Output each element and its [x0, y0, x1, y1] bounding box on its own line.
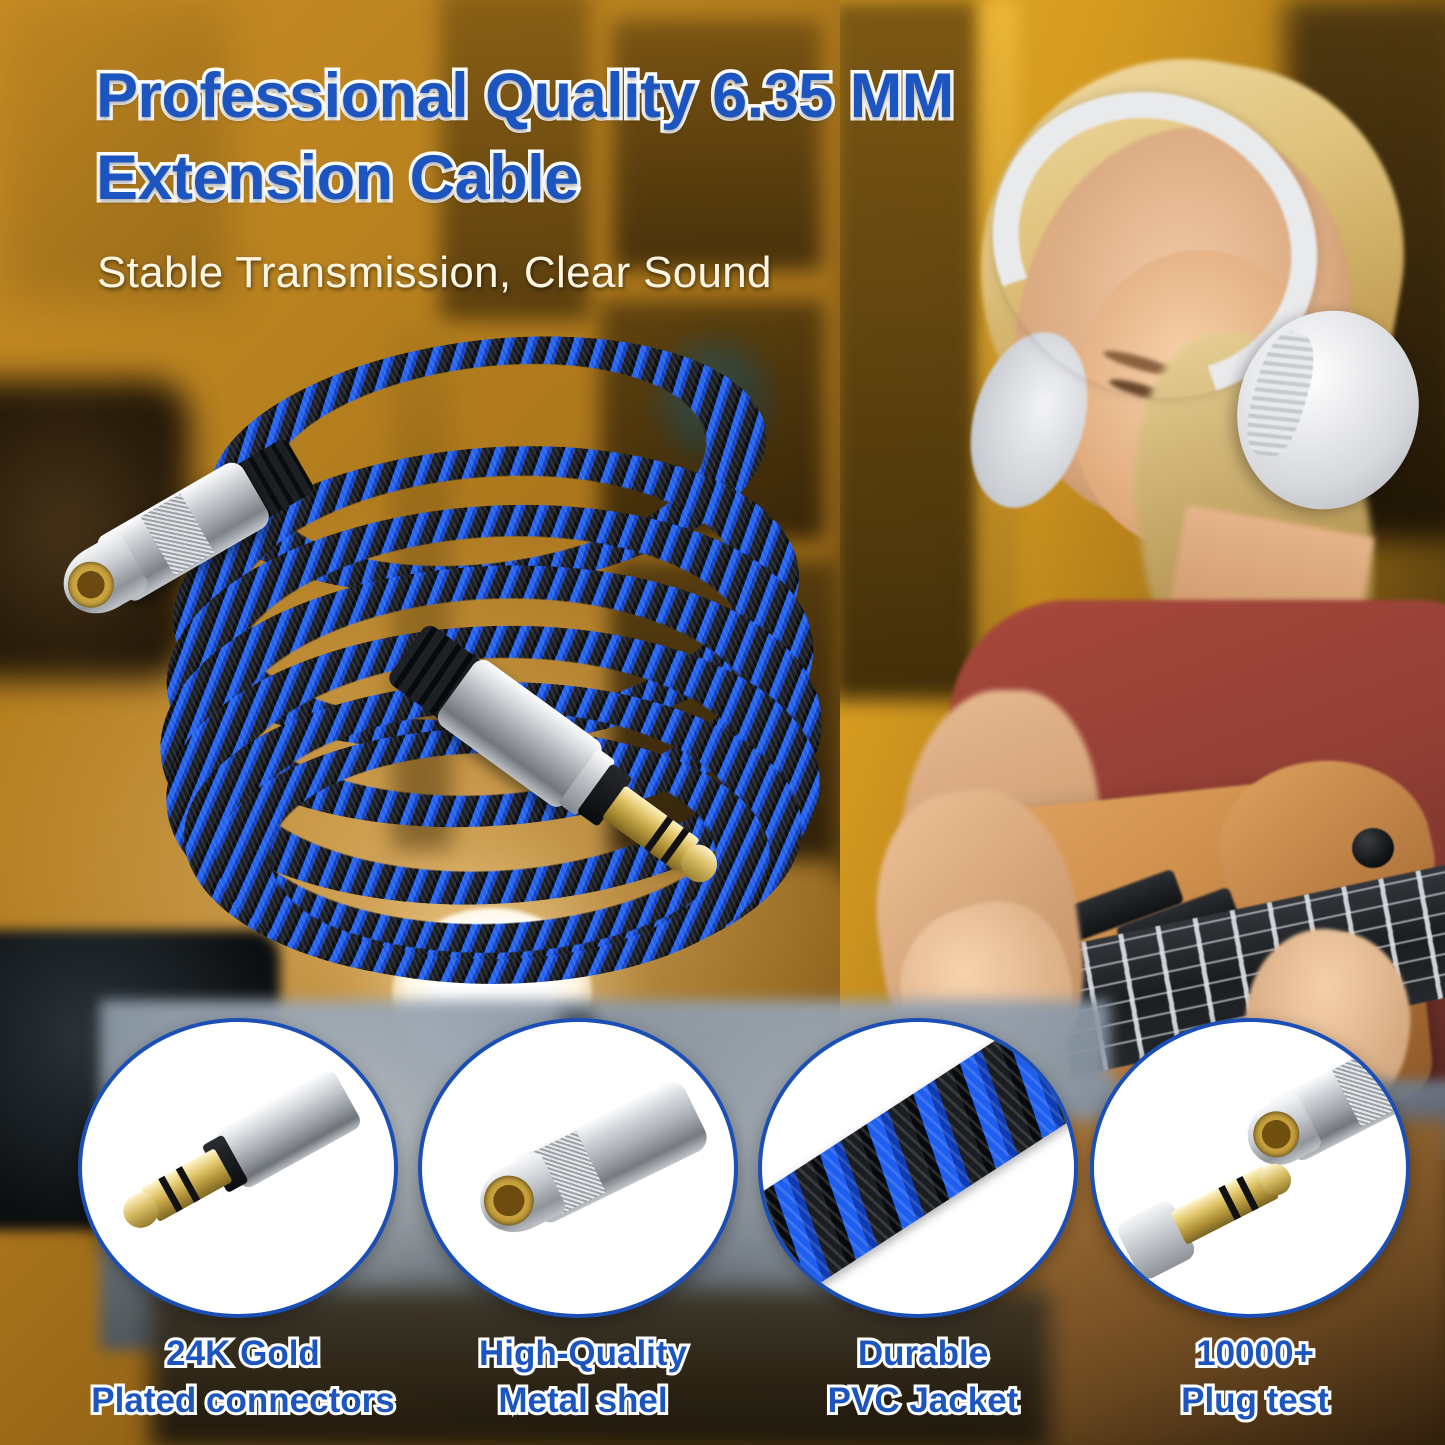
feature-item-pvc-jacket: Durable PVC Jacket [758, 1018, 1088, 1318]
feature-circle [78, 1018, 398, 1318]
title-line-1: Professional Quality 6.35 MM [96, 55, 996, 137]
plug-and-jack-pair-icon [1094, 1022, 1406, 1314]
feature-label-line-2: Metal shel [418, 1377, 748, 1424]
feature-label-line-1: 10000+ [1090, 1330, 1420, 1377]
feature-label: Durable PVC Jacket [758, 1330, 1088, 1424]
feature-label-line-2: PVC Jacket [758, 1377, 1088, 1424]
product-marketing-image: Professional Quality 6.35 MM Extension C… [0, 0, 1445, 1445]
feature-label-line-1: Durable [758, 1330, 1088, 1377]
trs-female-jack-icon [448, 1068, 718, 1271]
feature-label-line-2: Plug test [1090, 1377, 1420, 1424]
guitar-knob [1352, 828, 1394, 868]
feature-circle [1090, 1018, 1410, 1318]
trs-male-plug-icon [97, 1060, 364, 1269]
feature-row: 24K Gold Plated connectors High-Quality … [0, 1018, 1445, 1445]
feature-label-line-1: High-Quality [418, 1330, 748, 1377]
title-line-2: Extension Cable [96, 137, 996, 219]
cable-coil [150, 330, 830, 930]
feature-item-gold-plated: 24K Gold Plated connectors [78, 1018, 408, 1318]
feature-label: 10000+ Plug test [1090, 1330, 1420, 1424]
feature-item-metal-shell: High-Quality Metal shel [418, 1018, 748, 1318]
feature-label: High-Quality Metal shel [418, 1330, 748, 1424]
braided-jacket-icon [758, 1018, 1078, 1306]
page-title: Professional Quality 6.35 MM Extension C… [96, 55, 996, 219]
feature-item-plug-test: 10000+ Plug test [1090, 1018, 1420, 1318]
trs-male-plug-icon [1109, 1111, 1354, 1294]
feature-circle [758, 1018, 1078, 1318]
page-subtitle: Stable Transmission, Clear Sound [97, 248, 772, 298]
feature-label: 24K Gold Plated connectors [78, 1330, 408, 1424]
feature-label-line-2: Plated connectors [78, 1377, 408, 1424]
feature-label-line-1: 24K Gold [78, 1330, 408, 1377]
feature-circle [418, 1018, 738, 1318]
